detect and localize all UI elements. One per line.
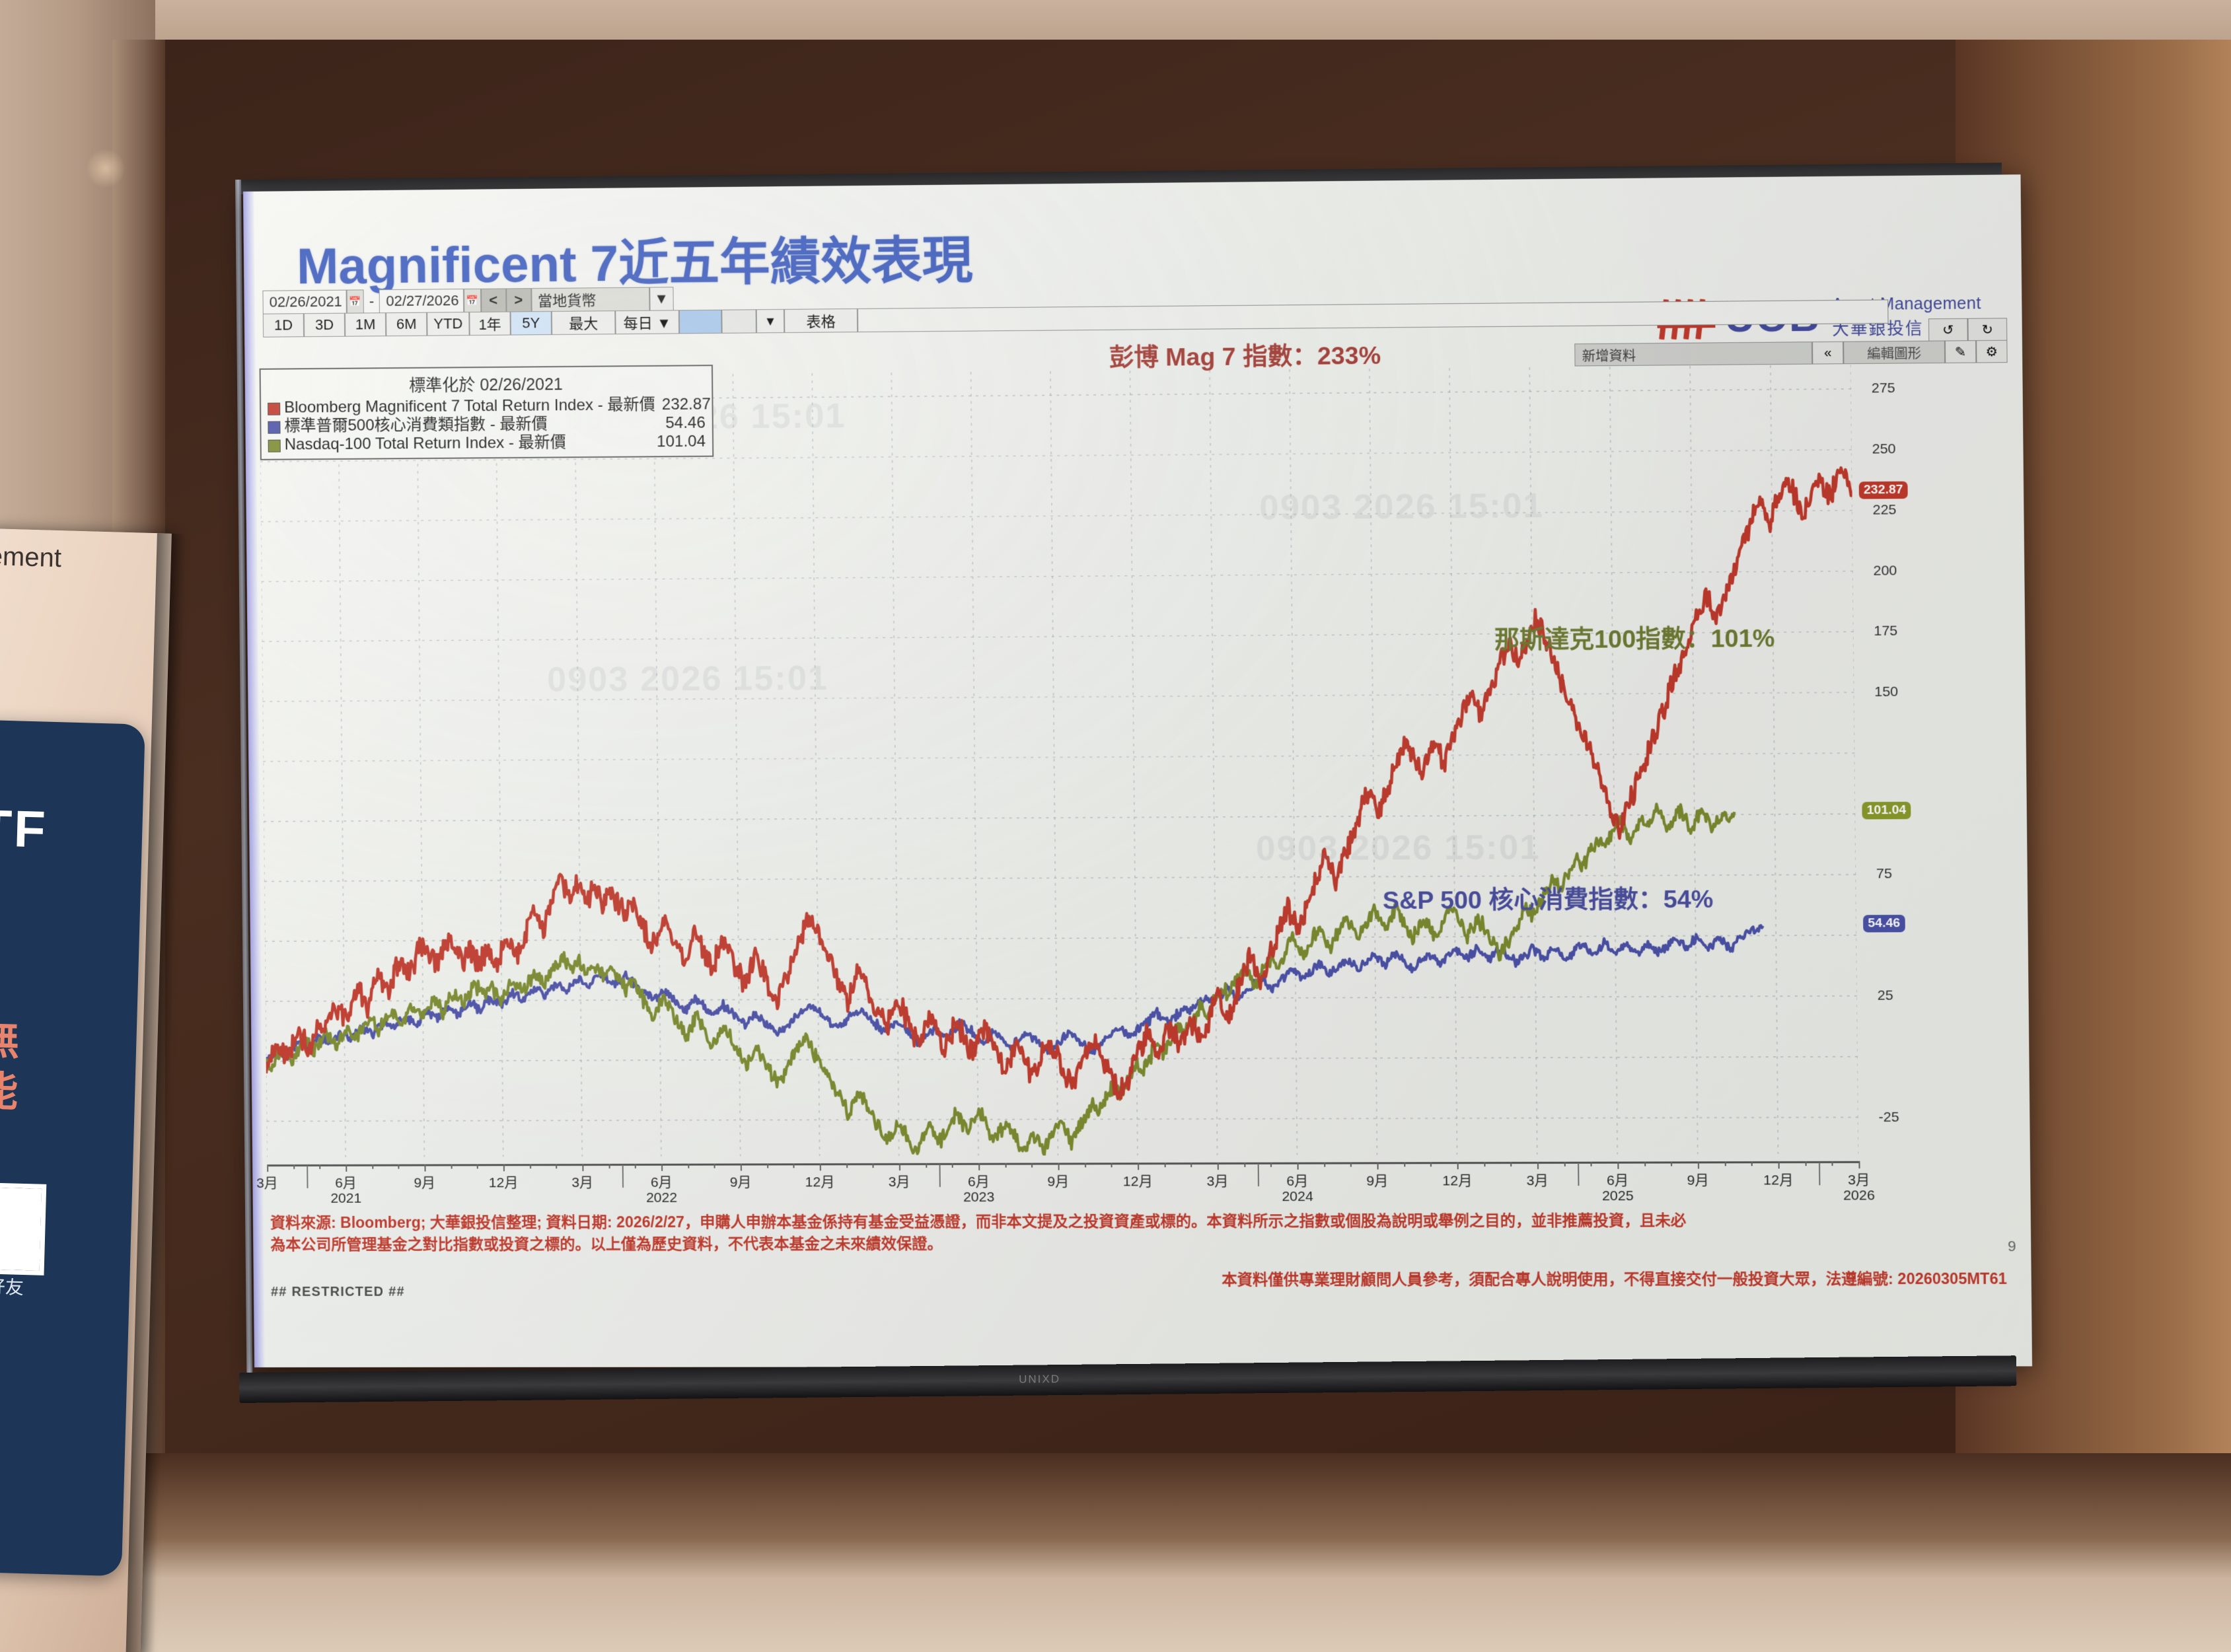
x-minor-tick bbox=[1404, 1162, 1405, 1167]
presentation-slide: Magnificent 7近五年績效表現 UOB Asset Managemen… bbox=[243, 174, 2032, 1367]
x-tick-label: 9月 bbox=[1047, 1170, 1069, 1190]
x-tick-label: 6月 bbox=[968, 1171, 990, 1191]
x-minor-tick bbox=[451, 1164, 452, 1168]
x-year-label: 2026 bbox=[1843, 1188, 1875, 1203]
banner-card: ETF 並無 可能 加入好友 bbox=[0, 719, 145, 1577]
x-year-separator bbox=[622, 1165, 623, 1188]
next-button[interactable]: > bbox=[506, 288, 531, 312]
legend-label-sp500: 標準普爾500核心消費類指數 - 最新價 bbox=[284, 414, 659, 435]
banner-headline-line2: 可能 bbox=[0, 1065, 20, 1118]
qr-caption: 加入好友 bbox=[0, 1272, 24, 1300]
x-minor-tick bbox=[714, 1164, 715, 1168]
x-axis: 3月6月9月12月3月6月9月12月3月6月9月12月3月6月9月12月3月6月… bbox=[267, 1149, 1866, 1212]
x-tick bbox=[1377, 1162, 1379, 1169]
x-year-separator bbox=[1578, 1163, 1579, 1186]
chart-edit-toolbar: ↺ ↻ 新增資料 « 編輯圖形 ✎ ⚙ bbox=[1574, 318, 2008, 366]
x-tick bbox=[978, 1163, 980, 1170]
x-minor-tick bbox=[1085, 1163, 1086, 1167]
x-year-label: 2021 bbox=[330, 1191, 361, 1207]
legend-item: Nasdaq-100 Total Return Index - 最新價 101.… bbox=[268, 432, 706, 454]
legend-label-nasdaq: Nasdaq-100 Total Return Index - 最新價 bbox=[285, 433, 651, 454]
table-button[interactable]: 表格 bbox=[784, 308, 858, 333]
y-tick-200: 200 bbox=[1873, 563, 1897, 579]
chevron-down-icon[interactable]: ▼ bbox=[649, 287, 674, 310]
x-tick-label: 6月 bbox=[1286, 1170, 1309, 1190]
x-minor-tick bbox=[372, 1165, 373, 1169]
x-minor-tick bbox=[320, 1165, 321, 1169]
prev-button[interactable]: < bbox=[481, 288, 506, 312]
banner-headline-line1: 並無 bbox=[0, 1013, 22, 1067]
annotation-nasdaq100: 那斯達克100指數：101% bbox=[1494, 618, 1775, 656]
x-tick bbox=[1537, 1162, 1539, 1169]
x-year-separator bbox=[307, 1166, 308, 1188]
legend-swatch-nasdaq bbox=[268, 439, 281, 452]
x-minor-tick bbox=[688, 1164, 689, 1168]
x-tick-label: 12月 bbox=[1123, 1170, 1153, 1190]
range-6m[interactable]: 6M bbox=[386, 312, 427, 337]
mag7-badge: 232.87 bbox=[1859, 482, 1908, 499]
x-tick bbox=[1698, 1161, 1699, 1168]
x-tick-label: 9月 bbox=[1366, 1170, 1389, 1190]
disclaimer-line-2: 為本公司所管理基金之對比指數或投資之標的。以上僅為歷史資料，不代表本基金之未來績… bbox=[270, 1231, 1998, 1255]
chart-legend: 標準化於 02/26/2021 Bloomberg Magnificent 7 … bbox=[260, 365, 714, 460]
x-year-label: 2025 bbox=[1602, 1188, 1634, 1204]
banner-headline: 並無 可能 bbox=[0, 1013, 22, 1118]
edit-row: 新增資料 « 編輯圖形 ✎ ⚙ bbox=[1574, 340, 2007, 367]
foreground-banner: anagement 信 ETF 並無 可能 加入好友 bbox=[0, 528, 185, 1652]
x-year-label: 2023 bbox=[963, 1190, 994, 1205]
gear-icon[interactable]: ⚙ bbox=[1976, 340, 2008, 363]
x-minor-tick bbox=[1832, 1161, 1833, 1166]
collapse-icon[interactable]: « bbox=[1812, 341, 1843, 365]
qr-code bbox=[0, 1182, 46, 1275]
y-tick-250: 250 bbox=[1872, 441, 1896, 458]
chart-svg bbox=[260, 365, 1859, 1157]
x-minor-tick bbox=[1190, 1163, 1192, 1167]
room-photo: Magnificent 7近五年績效表現 UOB Asset Managemen… bbox=[0, 0, 2231, 1652]
x-tick-label: 6月 bbox=[335, 1172, 357, 1192]
banner-header: anagement 信 bbox=[0, 542, 158, 613]
x-tick bbox=[582, 1164, 583, 1171]
frequency-select[interactable]: 每日 ▼ bbox=[615, 310, 679, 334]
x-tick-label: 6月 bbox=[1607, 1170, 1629, 1190]
currency-select[interactable]: 當地貨幣 bbox=[531, 287, 649, 312]
x-minor-tick bbox=[1324, 1163, 1325, 1167]
x-tick bbox=[424, 1164, 425, 1171]
x-minor-tick bbox=[1644, 1161, 1646, 1166]
x-minor-tick bbox=[1270, 1163, 1272, 1167]
x-minor-tick bbox=[1111, 1163, 1113, 1167]
projection-screen: Magnificent 7近五年績效表現 UOB Asset Managemen… bbox=[243, 174, 2032, 1367]
undo-icon[interactable]: ↺ bbox=[1928, 318, 1968, 341]
x-tick bbox=[1617, 1162, 1619, 1169]
annotation-mag7: 彭博 Mag 7 指數：233% bbox=[1109, 335, 1381, 373]
series-line-nasdaq100 bbox=[264, 804, 1737, 1157]
x-tick-label: 12月 bbox=[805, 1171, 835, 1191]
ceiling-light bbox=[86, 149, 126, 188]
x-minor-tick bbox=[1564, 1162, 1565, 1167]
y-axis: 2752502252001751507525-25232.87101.0454.… bbox=[1856, 364, 1946, 1154]
floor-band bbox=[0, 1539, 2231, 1652]
calendar-icon[interactable]: 📅 bbox=[347, 289, 364, 313]
x-minor-tick bbox=[1751, 1161, 1753, 1166]
range-max[interactable]: 最大 bbox=[552, 310, 616, 335]
x-tick bbox=[741, 1163, 742, 1170]
x-tick-label: 12月 bbox=[489, 1172, 519, 1192]
range-3d[interactable]: 3D bbox=[304, 313, 345, 338]
y-tick-275: 275 bbox=[1872, 380, 1895, 397]
y-tick-175: 175 bbox=[1874, 624, 1897, 640]
x-minor-tick bbox=[1724, 1161, 1726, 1166]
x-tick-label: 3月 bbox=[256, 1172, 278, 1192]
extra-blue-button[interactable] bbox=[679, 310, 722, 334]
x-tick-label: 3月 bbox=[888, 1171, 910, 1191]
x-minor-tick bbox=[1671, 1161, 1672, 1166]
annotation-sp500: S&P 500 核心消費指數：54% bbox=[1383, 879, 1714, 916]
x-tick bbox=[1858, 1161, 1860, 1168]
x-minor-tick bbox=[635, 1164, 636, 1168]
x-minor-tick bbox=[873, 1163, 874, 1168]
x-tick bbox=[1058, 1163, 1059, 1170]
chart-edit-icon[interactable]: ✎ bbox=[1945, 340, 1977, 363]
disclaimer-line-1: 資料來源: Bloomberg; 大華銀投信整理; 資料日期: 2026/2/2… bbox=[270, 1209, 1998, 1233]
banner-header-en: anagement bbox=[0, 540, 158, 577]
x-tick-label: 6月 bbox=[651, 1172, 673, 1192]
y-tick-225: 225 bbox=[1872, 502, 1896, 519]
x-year-label: 2024 bbox=[1282, 1189, 1313, 1205]
x-tick bbox=[1778, 1161, 1780, 1168]
x-tick bbox=[820, 1163, 821, 1170]
x-minor-tick bbox=[767, 1163, 768, 1168]
legend-swatch-mag7 bbox=[268, 403, 280, 415]
y-tick-25: 25 bbox=[1878, 988, 1893, 1003]
professional-use-notice: 本資料僅供專業理財顧問人員參考，須配合專人說明使用，不得直接交付一般投資大眾，法… bbox=[1222, 1266, 2007, 1289]
legend-label-mag7: Bloomberg Magnificent 7 Total Return Ind… bbox=[284, 396, 655, 417]
date-dash: - bbox=[364, 289, 380, 313]
x-year-separator bbox=[1257, 1164, 1259, 1186]
x-minor-tick bbox=[846, 1163, 848, 1168]
x-tick-label: 9月 bbox=[729, 1171, 751, 1191]
legend-value-mag7: 232.87 bbox=[662, 395, 711, 414]
x-minor-tick bbox=[952, 1163, 953, 1168]
new-data-button[interactable]: 新增資料 bbox=[1574, 341, 1812, 366]
vertical-gridlines bbox=[260, 365, 1859, 1157]
x-tick-label: 9月 bbox=[414, 1172, 435, 1192]
x-tick bbox=[1218, 1163, 1219, 1170]
x-minor-tick bbox=[1805, 1161, 1806, 1166]
x-minor-tick bbox=[1591, 1162, 1592, 1167]
source-disclaimer: 資料來源: Bloomberg; 大華銀投信整理; 資料日期: 2026/2/2… bbox=[270, 1209, 1998, 1255]
range-ytd[interactable]: YTD bbox=[427, 312, 470, 336]
x-year-separator bbox=[939, 1165, 940, 1187]
banner-header-zh: 信 bbox=[0, 573, 157, 613]
banner-etf-text: ETF bbox=[0, 797, 48, 859]
x-minor-tick bbox=[477, 1164, 478, 1168]
x-minor-tick bbox=[398, 1165, 400, 1169]
x-tick bbox=[899, 1163, 900, 1170]
x-axis-line bbox=[267, 1161, 1858, 1167]
ndx-badge: 101.04 bbox=[1862, 802, 1911, 820]
restricted-mark: ## RESTRICTED ## bbox=[271, 1285, 405, 1300]
x-tick-label: 3月 bbox=[1848, 1169, 1870, 1189]
x-tick bbox=[503, 1164, 505, 1171]
x-minor-tick bbox=[556, 1164, 557, 1168]
x-minor-tick bbox=[793, 1163, 795, 1168]
range-1m[interactable]: 1M bbox=[345, 312, 386, 337]
x-tick-label: 12月 bbox=[1442, 1170, 1472, 1190]
x-minor-tick bbox=[1510, 1162, 1512, 1167]
legend-swatch-sp500 bbox=[268, 421, 280, 433]
y-tick--25: -25 bbox=[1878, 1109, 1899, 1125]
x-minor-tick bbox=[1164, 1163, 1165, 1167]
x-tick bbox=[1138, 1163, 1139, 1170]
end-date-input[interactable]: 02/27/2026 bbox=[379, 289, 464, 313]
y-tick-150: 150 bbox=[1874, 684, 1898, 701]
x-tick-label: 12月 bbox=[1763, 1169, 1794, 1189]
spx-badge: 54.46 bbox=[1863, 915, 1905, 933]
x-minor-tick bbox=[926, 1163, 927, 1168]
x-tick-label: 3月 bbox=[1206, 1170, 1228, 1190]
start-date-input[interactable]: 02/26/2021 bbox=[262, 290, 347, 314]
x-minor-tick bbox=[608, 1164, 610, 1168]
extra-blank-button[interactable] bbox=[721, 309, 756, 334]
page-number: 9 bbox=[2008, 1238, 2016, 1255]
x-minor-tick bbox=[1350, 1162, 1352, 1167]
x-minor-tick bbox=[1005, 1163, 1006, 1168]
legend-value-nasdaq: 101.04 bbox=[657, 432, 706, 450]
y-tick-75: 75 bbox=[1876, 867, 1892, 882]
calendar-icon-end[interactable]: 📅 bbox=[463, 289, 480, 312]
redo-icon[interactable]: ↻ bbox=[1967, 318, 2007, 341]
x-minor-tick bbox=[1484, 1162, 1485, 1167]
x-tick bbox=[267, 1165, 268, 1172]
range-1y[interactable]: 1年 bbox=[469, 312, 511, 336]
range-5y-selected[interactable]: 5Y bbox=[511, 311, 552, 336]
x-tick-label: 9月 bbox=[1687, 1169, 1709, 1189]
edit-graph-button[interactable]: 編輯圖形 bbox=[1843, 340, 1945, 364]
x-tick-label: 3月 bbox=[571, 1172, 593, 1192]
x-tick bbox=[346, 1165, 347, 1172]
x-tick bbox=[661, 1164, 663, 1171]
x-tick-label: 3月 bbox=[1526, 1170, 1549, 1190]
x-minor-tick bbox=[1430, 1162, 1432, 1167]
screen-brand-label: UNIXD bbox=[1019, 1373, 1060, 1386]
small-chevron-icon[interactable]: ▾ bbox=[756, 309, 785, 334]
x-tick bbox=[1298, 1163, 1299, 1170]
chart-plot-area: 0903 2026 15:01 0903 2026 15:01 0903 202… bbox=[260, 365, 1859, 1157]
x-minor-tick bbox=[1031, 1163, 1033, 1167]
x-year-separator bbox=[1819, 1163, 1820, 1185]
x-minor-tick bbox=[1244, 1163, 1245, 1167]
x-year-label: 2022 bbox=[646, 1190, 677, 1206]
legend-header: 標準化於 02/26/2021 bbox=[268, 370, 706, 397]
x-minor-tick bbox=[293, 1165, 295, 1169]
x-tick bbox=[1457, 1162, 1459, 1169]
x-minor-tick bbox=[530, 1164, 531, 1168]
range-1d[interactable]: 1D bbox=[263, 313, 304, 338]
legend-value-sp500: 54.46 bbox=[665, 413, 706, 432]
